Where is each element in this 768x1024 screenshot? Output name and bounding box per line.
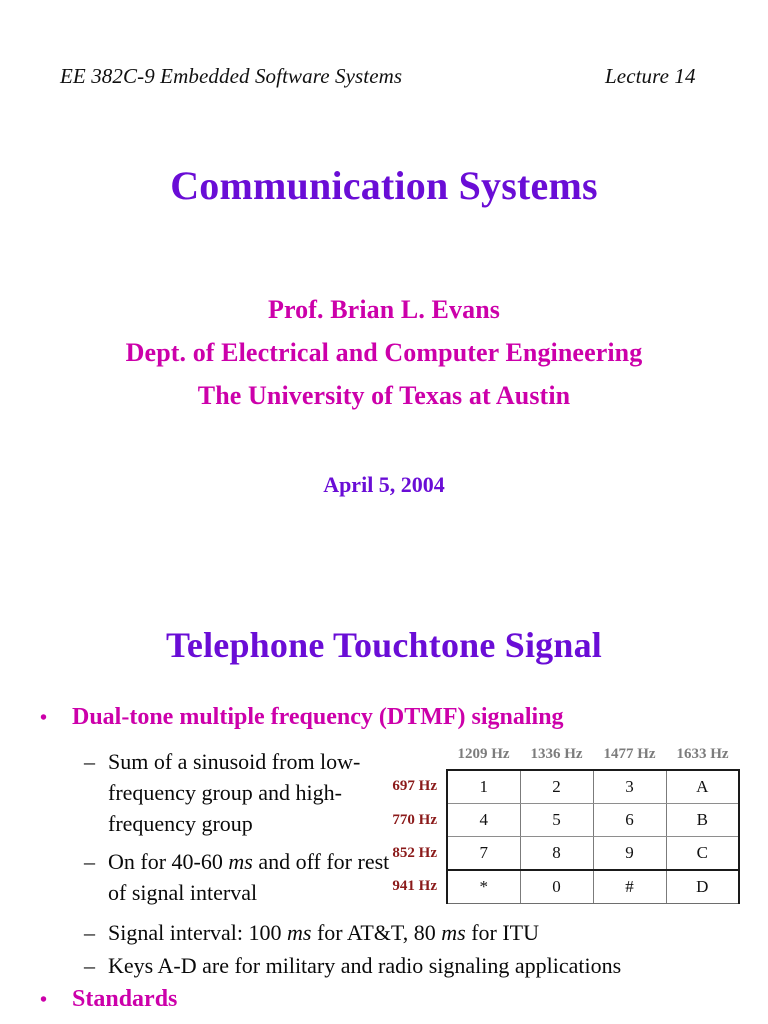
- signal-interval-unit-ms-att: ms: [287, 920, 311, 945]
- row-header-941hz: 941 Hz: [380, 870, 447, 904]
- column-header-1633hz: 1633 Hz: [666, 746, 739, 770]
- column-header-1336hz: 1336 Hz: [520, 746, 593, 770]
- column-header-1477hz: 1477 Hz: [593, 746, 666, 770]
- author-university: The University of Texas at Austin: [0, 374, 768, 417]
- course-header: EE 382C-9 Embedded Software Systems Lect…: [60, 64, 750, 89]
- sub-bullet-sum-of-sinusoid-text: Sum of a sinusoid from low-frequency gro…: [108, 749, 360, 836]
- table-header-row: 1209 Hz 1336 Hz 1477 Hz 1633 Hz: [380, 746, 739, 770]
- key-cell-d[interactable]: D: [666, 870, 739, 904]
- signal-interval-text-a: Signal interval: 100: [108, 920, 287, 945]
- dash-marker-icon: –: [84, 846, 95, 877]
- signal-interval-text-b: for AT&T, 80: [311, 920, 441, 945]
- row-header-852hz: 852 Hz: [380, 837, 447, 871]
- row-header-697hz: 697 Hz: [380, 770, 447, 804]
- title-slide: EE 382C-9 Embedded Software Systems Lect…: [0, 0, 768, 600]
- key-cell-8[interactable]: 8: [520, 837, 593, 871]
- key-cell-c[interactable]: C: [666, 837, 739, 871]
- key-cell-b[interactable]: B: [666, 804, 739, 837]
- section-title: Telephone Touchtone Signal: [0, 624, 768, 666]
- author-name: Prof. Brian L. Evans: [0, 288, 768, 331]
- key-cell-star[interactable]: *: [447, 870, 520, 904]
- author-department: Dept. of Electrical and Computer Enginee…: [0, 331, 768, 374]
- table-row: 941 Hz * 0 # D: [380, 870, 739, 904]
- key-cell-9[interactable]: 9: [593, 837, 666, 871]
- bullet-marker-icon: •: [40, 989, 72, 1012]
- sub-bullet-signal-interval: –Signal interval: 100 ms for AT&T, 80 ms…: [84, 917, 768, 948]
- key-cell-hash[interactable]: #: [593, 870, 666, 904]
- deck-date: April 5, 2004: [0, 472, 768, 498]
- bullet-marker-icon: •: [40, 707, 72, 730]
- bullet-dtmf-label: Dual-tone multiple frequency (DTMF) sign…: [72, 704, 564, 730]
- on-off-unit-ms: ms: [228, 849, 252, 874]
- signal-interval-unit-ms-itu: ms: [441, 920, 465, 945]
- key-cell-a[interactable]: A: [666, 770, 739, 804]
- key-cell-1[interactable]: 1: [447, 770, 520, 804]
- key-cell-4[interactable]: 4: [447, 804, 520, 837]
- signal-interval-text-c: for ITU: [466, 920, 539, 945]
- lecture-number: Lecture 14: [605, 64, 696, 89]
- bullet-standards: •Standards: [40, 986, 177, 1013]
- table-row: 770 Hz 4 5 6 B: [380, 804, 739, 837]
- key-cell-6[interactable]: 6: [593, 804, 666, 837]
- on-off-text-a: On for 40-60: [108, 849, 228, 874]
- dtmf-frequency-table: 1209 Hz 1336 Hz 1477 Hz 1633 Hz 697 Hz 1…: [380, 746, 740, 904]
- dash-marker-icon: –: [84, 950, 95, 981]
- sub-bullet-keys-a-d: –Keys A-D are for military and radio sig…: [84, 950, 768, 981]
- key-cell-3[interactable]: 3: [593, 770, 666, 804]
- row-header-770hz: 770 Hz: [380, 804, 447, 837]
- dash-marker-icon: –: [84, 917, 95, 948]
- content-slide: Telephone Touchtone Signal •Dual-tone mu…: [0, 600, 768, 1024]
- key-cell-2[interactable]: 2: [520, 770, 593, 804]
- author-block: Prof. Brian L. Evans Dept. of Electrical…: [0, 288, 768, 417]
- column-header-1209hz: 1209 Hz: [447, 746, 520, 770]
- sub-bullet-keys-a-d-text: Keys A-D are for military and radio sign…: [108, 953, 621, 978]
- key-cell-0[interactable]: 0: [520, 870, 593, 904]
- table-row: 697 Hz 1 2 3 A: [380, 770, 739, 804]
- bullet-dtmf-signaling: •Dual-tone multiple frequency (DTMF) sig…: [40, 704, 564, 731]
- dtmf-table-wrapper: 1209 Hz 1336 Hz 1477 Hz 1633 Hz 697 Hz 1…: [380, 746, 746, 904]
- sub-bullet-sum-of-sinusoid: –Sum of a sinusoid from low-frequency gr…: [84, 746, 408, 839]
- course-name: EE 382C-9 Embedded Software Systems: [60, 64, 402, 89]
- deck-title: Communication Systems: [0, 162, 768, 209]
- table-row: 852 Hz 7 8 9 C: [380, 837, 739, 871]
- table-corner-cell: [380, 746, 447, 770]
- dash-marker-icon: –: [84, 746, 95, 777]
- sub-bullet-on-off-timing: –On for 40-60 ms and off for rest of sig…: [84, 846, 408, 908]
- key-cell-5[interactable]: 5: [520, 804, 593, 837]
- bullet-standards-label: Standards: [72, 986, 177, 1012]
- key-cell-7[interactable]: 7: [447, 837, 520, 871]
